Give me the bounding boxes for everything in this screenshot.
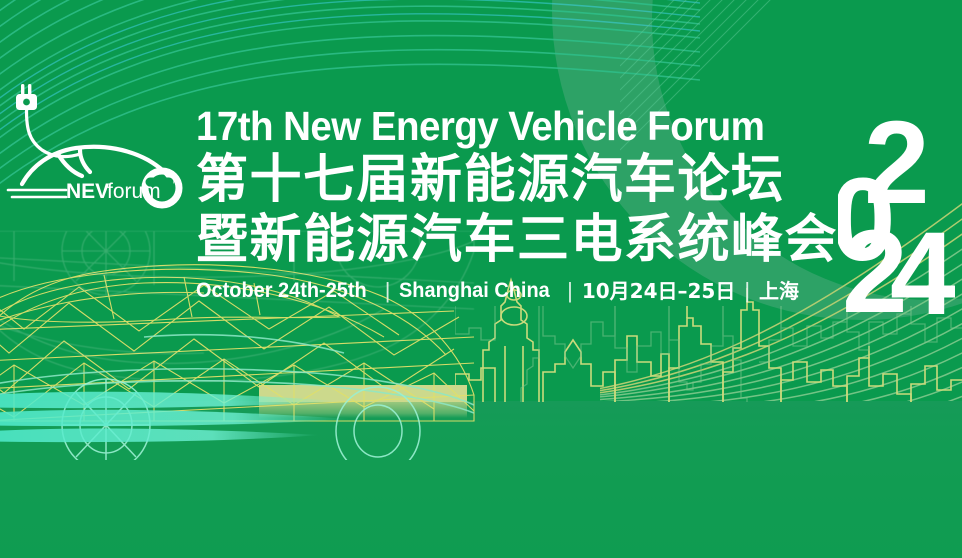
dateline-date-cn: 10月24日–25日	[582, 279, 736, 303]
dateline-separator-3: |	[744, 279, 750, 303]
charging-plug-icon	[16, 84, 37, 110]
dateline-location-en: Shanghai China	[399, 279, 550, 303]
event-poster: NEV forum 2 0 2 4 17th New Energy Vehicl…	[0, 0, 962, 558]
flow-lines-right-reflection-icon	[600, 401, 962, 558]
year-2024-badge: 2 0 2 4	[838, 108, 962, 314]
year-digit-4: 4	[890, 208, 956, 314]
nevforum-logo[interactable]: NEV forum	[6, 78, 186, 210]
dateline: October 24th-25th | Shanghai China | 10月…	[196, 279, 836, 303]
headline-block: 17th New Energy Vehicle Forum 第十七届新能源汽车论…	[196, 104, 836, 303]
title-chinese-line1: 第十七届新能源汽车论坛	[196, 150, 836, 210]
title-english: 17th New Energy Vehicle Forum	[196, 104, 798, 148]
logo-wordmark-bold: NEV	[66, 180, 109, 203]
logo-wordmark-light: forum	[107, 180, 161, 203]
dateline-date-en: October 24th-25th	[196, 279, 367, 303]
dateline-separator-2: |	[567, 279, 573, 303]
dateline-location-cn: 上海	[759, 279, 799, 303]
title-chinese-line2: 暨新能源汽车三电系统峰会	[196, 210, 836, 270]
cyan-glow-streaks-icon	[0, 385, 380, 445]
dateline-separator-1: |	[385, 279, 391, 303]
ground-lines-icon	[8, 190, 66, 197]
shanghai-skyline-reflection-icon	[455, 306, 962, 402]
